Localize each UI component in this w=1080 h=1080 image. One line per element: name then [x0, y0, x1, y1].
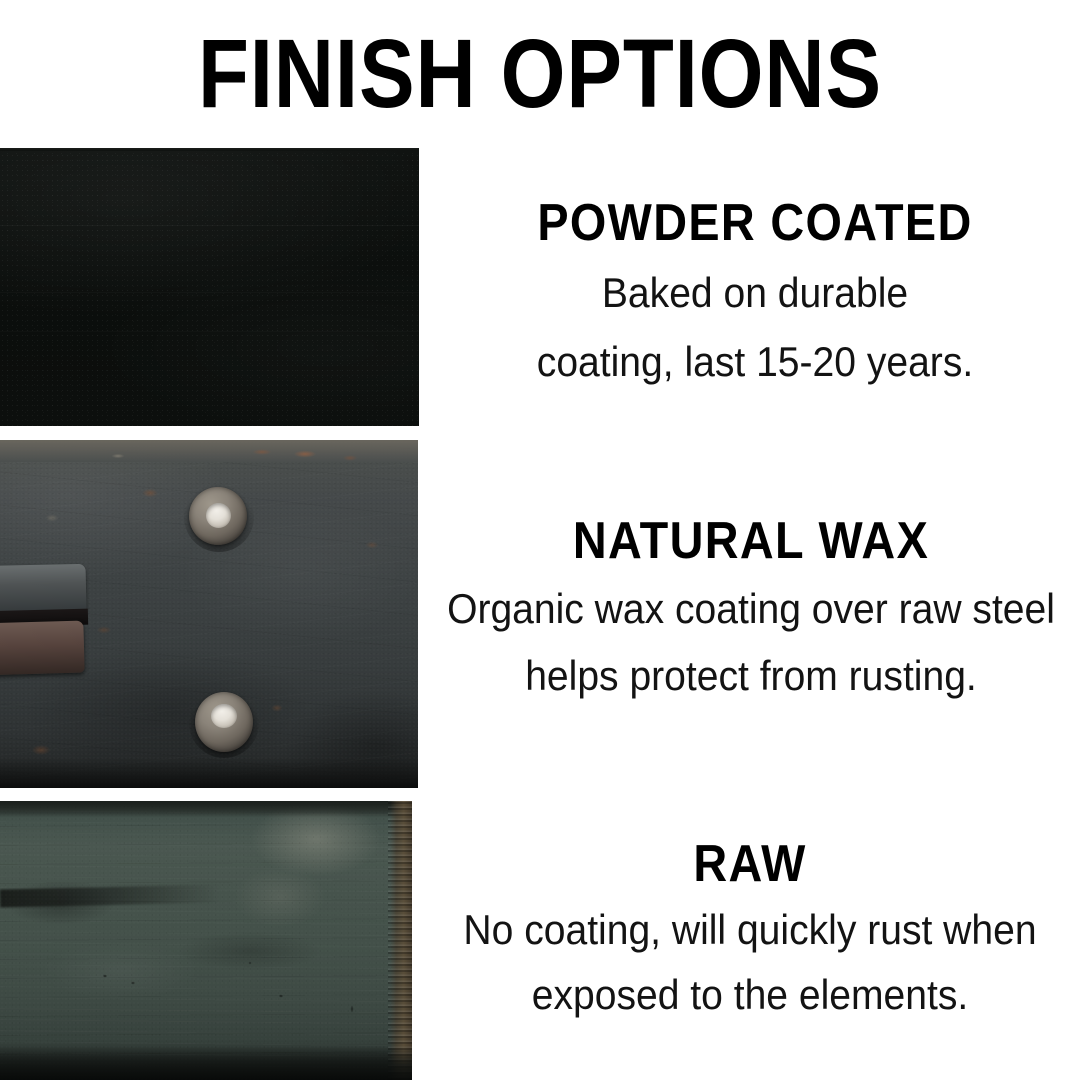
finish-name-natural-wax: NATURAL WAX: [455, 440, 1047, 570]
swatch-right-rust-edge-grain: [388, 801, 412, 1080]
raw-copy: RAW No coating, will quickly rust when e…: [420, 801, 1080, 1023]
swatch-noise-layer: [0, 148, 419, 426]
finish-name-powder-coated: POWDER COATED: [463, 148, 1048, 252]
finish-row-natural-wax: NATURAL WAX Organic wax coating over raw…: [0, 440, 1080, 788]
swatch-top-edge-flecks: [0, 440, 418, 466]
finish-description-line-2: coating, last 15-20 years.: [453, 321, 1058, 390]
swatch-top-edge-band: [0, 801, 412, 817]
swatch-noise-layer: [0, 801, 412, 1080]
swatch-bottom-edge-band: [0, 758, 418, 788]
swatch-bottom-edge-band: [0, 1046, 412, 1080]
finish-description-line-1: Baked on durable: [453, 252, 1058, 321]
finish-options-poster: FINISH OPTIONS POWDER COATED Baked on du…: [0, 0, 1080, 1080]
natural-wax-copy: NATURAL WAX Organic wax coating over raw…: [422, 440, 1080, 704]
countersunk-hole-upper-bore: [206, 503, 231, 528]
finish-row-powder-coated: POWDER COATED Baked on durable coating, …: [0, 148, 1080, 426]
finish-description-line-1: No coating, will quickly rust when: [443, 893, 1057, 958]
steel-bracket-upper: [0, 564, 86, 614]
page-title: FINISH OPTIONS: [76, 22, 1005, 126]
swatch-top-edge: [0, 148, 419, 151]
finish-row-raw: RAW No coating, will quickly rust when e…: [0, 801, 1080, 1080]
natural-wax-swatch: [0, 440, 418, 788]
finish-description-line-2: helps protect from rusting.: [445, 637, 1057, 704]
steel-bracket-lower: [0, 621, 85, 676]
finish-description-line-1: Organic wax coating over raw steel: [445, 570, 1057, 637]
powder-coated-swatch: [0, 148, 419, 426]
countersunk-hole-lower-bore: [211, 704, 237, 728]
finish-name-raw: RAW: [453, 801, 1047, 893]
finish-description-line-2: exposed to the elements.: [443, 958, 1057, 1023]
raw-swatch: [0, 801, 412, 1080]
powder-coated-copy: POWDER COATED Baked on durable coating, …: [430, 148, 1080, 390]
